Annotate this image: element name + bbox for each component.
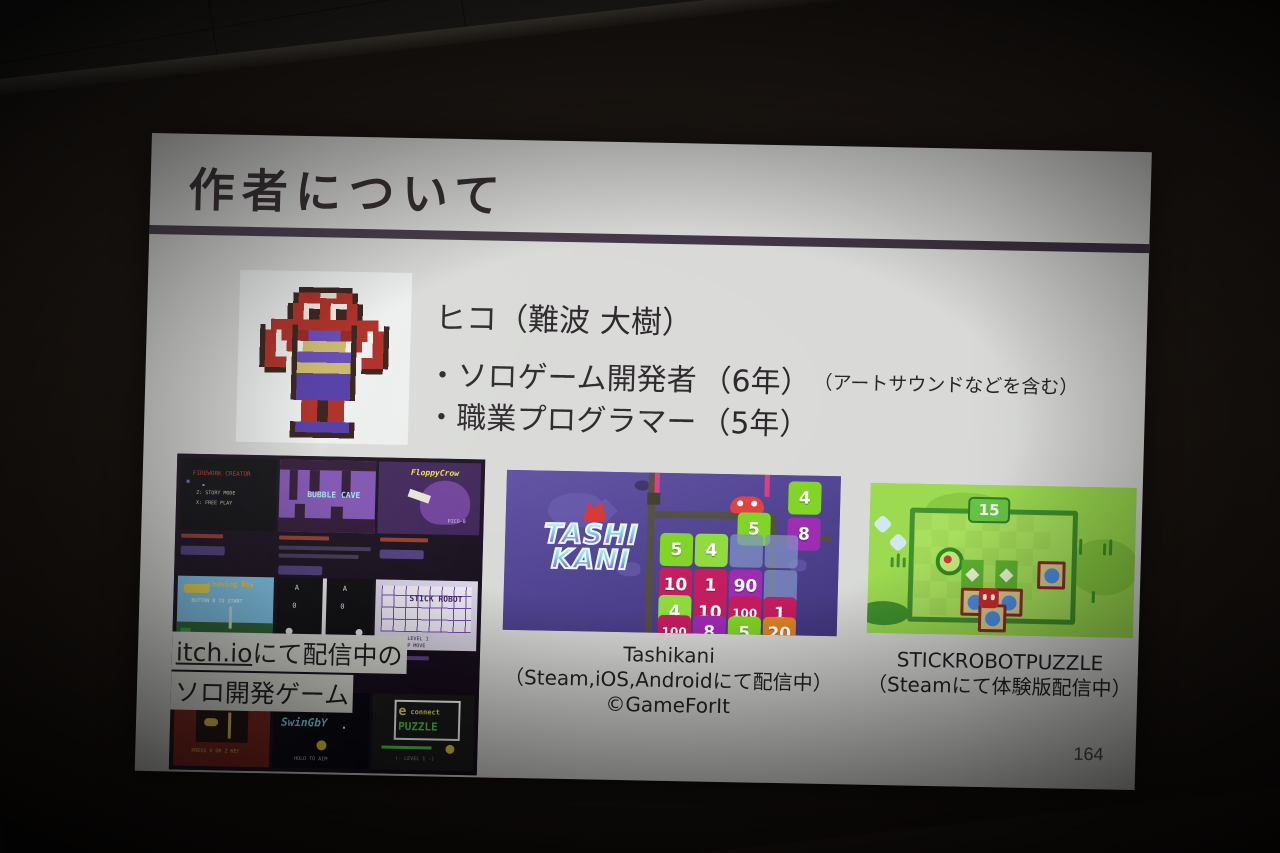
level-badge: 15 [968,497,1011,524]
tashikani-tile: 4 [694,533,728,567]
collage-card-bubble-cave: BUBBLE CAVE [278,460,376,534]
goal-marker-icon [935,547,964,576]
tashikani-tile: 5 [659,533,693,567]
collage-card-firework: FIREWORK CREATOR Z: STORY MODE X: FREE P… [179,458,277,532]
profile-note: （アートサウンドなどを含む） [813,368,1079,400]
collage-card-floppycrow: FloppyCrow PICO-8 [377,461,481,535]
bullet-programmer-years: （5年） [700,398,810,444]
stickrobotpuzzle-screenshot: 15 [867,483,1137,638]
tashikani-tile: 5 [727,616,761,636]
bullet-solo-dev-years: （6年） [701,356,811,402]
bullet-programmer: ・職業プログラマー [426,392,697,441]
avatar [236,270,413,445]
crab-claw-icon [730,496,764,514]
tashikani-side-tile: 4 [788,481,822,515]
tashikani-screenshot: TASHI KANI 4 8 5 [503,470,841,636]
photograph-of-projected-slide: 作者について [0,0,1280,853]
page-title: 作者について [188,154,509,226]
author-name: ヒコ（難波 大樹） [435,292,694,342]
robot-character [978,588,999,608]
tashikani-logo-line2: KANI [520,547,661,575]
title-divider [149,225,1149,253]
tashikani-caption: Tashikani （Steam,iOS,Androidにて配信中） ©Game… [486,640,850,721]
itch-overlay-line2: ソロ開発ゲーム [170,671,353,712]
itch-overlay-caption: itch.ioにて配信中の ソロ開発ゲーム [170,631,422,714]
crab-icon [584,507,606,521]
page-number: 164 [1073,744,1104,766]
projection-screen: 作者について [135,133,1152,792]
itch-overlay-line1-rest: にて配信中の [252,639,403,671]
itch-collage-screenshot: FIREWORK CREATOR Z: STORY MODE X: FREE P… [169,454,486,776]
puzzle-field [907,508,1078,625]
stickrobotpuzzle-caption-line-2: （Steamにて体験版配信中） [849,671,1150,702]
tashikani-tile: 100 [657,615,691,636]
tashikani-tile: 20 [762,617,796,636]
slide: 作者について [135,133,1152,790]
stickrobotpuzzle-caption: STICKROBOTPUZZLE （Steamにて体験版配信中） [849,646,1150,701]
tashikani-tile: 8 [692,615,726,636]
octopus-pixel-sprite [236,270,413,445]
tashikani-logo: TASHI KANI [520,522,661,574]
itch-io-link[interactable]: itch.io [176,638,253,668]
